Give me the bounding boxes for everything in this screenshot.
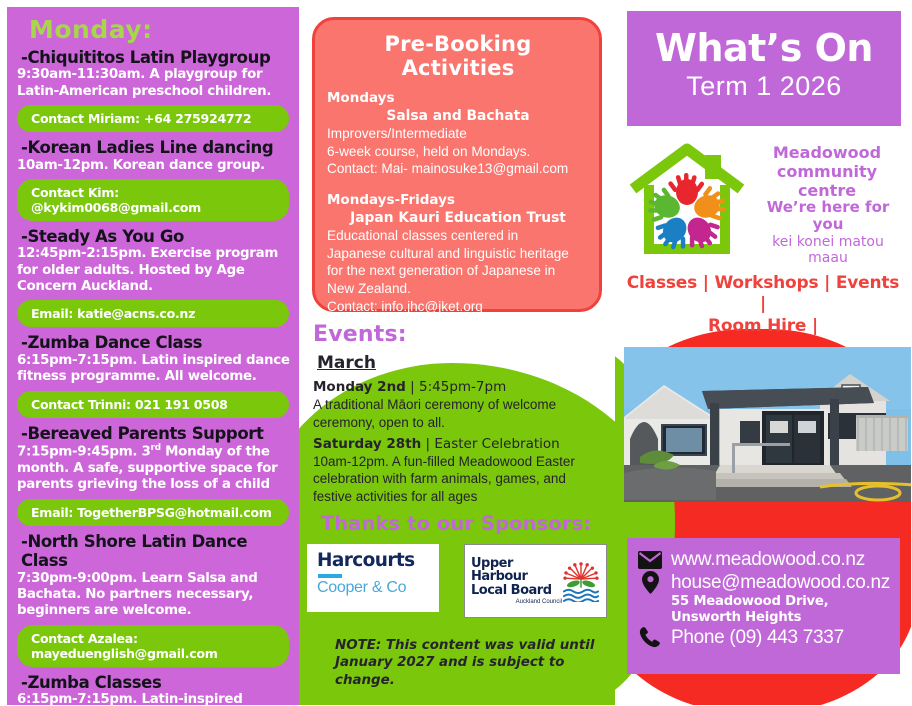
tagline-english: We’re here for you	[751, 199, 905, 234]
activity-contact-pill[interactable]: Email: katie@acns.co.nz	[17, 300, 289, 327]
whats-on-title: What’s On	[627, 29, 901, 67]
sponsor-logo-row: Harcourts Cooper & Co Upper Harbour Loca…	[307, 544, 607, 618]
community-centre-photo	[624, 347, 911, 502]
middle-column: Pre-Booking Activities Mondays Salsa and…	[299, 7, 615, 705]
uhlb-council-label: Auckland Council	[471, 599, 562, 605]
tagline-maori: kei konei matou maau	[751, 234, 905, 266]
pre-booking-entry: Mondays Salsa and Bachata Improvers/Inte…	[327, 90, 589, 178]
pre-booking-line: Japanese cultural and linguistic heritag…	[327, 245, 589, 263]
pre-booking-line: Improvers/Intermediate	[327, 125, 589, 143]
harcourts-wordmark: Harcourts	[317, 552, 439, 571]
activity-item: -Bereaved Parents Support 7:15pm-9:45pm.…	[15, 424, 291, 526]
brand-tagline: We’re here for you kei konei matou maau	[751, 199, 905, 266]
pre-booking-line: Educational classes centered in	[327, 227, 589, 245]
address-row: 55 Meadowood Drive, Unsworth Heights	[637, 594, 892, 625]
services-list: Classes | Workshops | Events | Room Hire…	[625, 273, 901, 337]
pre-booking-line: 6-week course, held on Mondays.	[327, 143, 589, 161]
event-headline: Saturday 28th | Easter Celebration	[313, 436, 595, 453]
activity-title: -Chiquititos Latin Playgroup	[15, 48, 291, 67]
events-month: March	[317, 353, 595, 373]
phone-icon	[637, 626, 663, 648]
phone-row[interactable]: Phone (09) 443 7337	[637, 626, 892, 649]
event-date: Monday 2nd	[313, 379, 406, 395]
activity-title: -Steady As You Go	[15, 227, 291, 246]
event-headline: Monday 2nd | 5:45pm-7pm	[313, 379, 595, 396]
pre-booking-name: Salsa and Bachata	[327, 108, 589, 124]
activity-title: -North Shore Latin Dance Class	[15, 532, 291, 571]
brand-name: Meadowood community centre	[751, 143, 903, 201]
activity-description: 6:15pm-7:15pm. Latin-inspired Zumba fitn…	[15, 692, 291, 705]
activity-contact-pill[interactable]: Contact Miriam: +64 275924772	[17, 105, 289, 132]
website-row[interactable]: www.meadowood.co.nz	[637, 548, 892, 571]
brand-name-line2: community centre	[777, 162, 877, 200]
pre-booking-line: for the next generation of Japanese in	[327, 262, 589, 280]
envelope-icon	[637, 551, 663, 569]
pre-booking-day: Mondays	[327, 90, 589, 106]
activity-description: 7:15pm-9:45pm. 3rd Monday of the month. …	[15, 443, 291, 494]
uhlb-line2: Local Board	[471, 583, 552, 598]
activity-contact-pill[interactable]: Contact Trinni: 021 191 0508	[17, 391, 289, 418]
whats-on-term: Term 1 2026	[627, 70, 901, 102]
event-item: Saturday 28th | Easter Celebration 10am-…	[313, 436, 595, 505]
pre-booking-day: Mondays-Fridays	[327, 192, 589, 208]
events-title: Events:	[313, 322, 407, 347]
location-pin-icon	[637, 571, 663, 594]
event-date: Saturday 28th	[313, 436, 421, 452]
services-line1: Classes | Workshops | Events |	[627, 273, 899, 314]
pre-booking-name: Japan Kauri Education Trust	[327, 210, 589, 226]
phone-text[interactable]: Phone (09) 443 7337	[671, 626, 844, 649]
event-time: 5:45pm-7pm	[419, 379, 506, 395]
activity-item: -Zumba Classes 6:15pm-7:15pm. Latin-insp…	[15, 673, 291, 705]
house-handprints-logo-icon	[627, 141, 747, 259]
brand-block: Meadowood community centre We’re here fo…	[623, 137, 905, 267]
website-text[interactable]: www.meadowood.co.nz	[671, 548, 865, 571]
activity-contact-pill[interactable]: Email: TogetherBPSG@hotmail.com	[17, 499, 289, 526]
activity-description: 12:45pm-2:15pm. Exercise program for old…	[15, 246, 291, 295]
harcourts-logo: Harcourts Cooper & Co	[307, 544, 439, 612]
events-body: March Monday 2nd | 5:45pm-7pm A traditio…	[313, 353, 595, 510]
pre-booking-card: Pre-Booking Activities Mondays Salsa and…	[312, 17, 602, 312]
harcourts-subbrand: Cooper & Co	[317, 580, 439, 596]
activity-item: -North Shore Latin Dance Class 7:30pm-9:…	[15, 532, 291, 667]
activity-description: 6:15pm-7:15pm. Latin inspired dance fitn…	[15, 353, 291, 386]
activity-description: 10am-12pm. Korean dance group.	[15, 158, 291, 174]
event-separator: |	[421, 436, 434, 452]
uhlb-line1: Upper Harbour	[471, 556, 527, 584]
address-text: 55 Meadowood Drive, Unsworth Heights	[671, 594, 892, 625]
day-heading: Monday:	[29, 15, 291, 44]
activity-title: -Korean Ladies Line dancing	[15, 138, 291, 157]
event-description: A traditional Māori ceremony of welcome …	[313, 396, 595, 431]
activity-item: -Chiquititos Latin Playgroup 9:30am-11:3…	[15, 48, 291, 132]
brand-name-line1: Meadowood	[773, 143, 881, 162]
activity-description: 9:30am-11:30am. A playgroup for Latin-Am…	[15, 67, 291, 100]
activity-item: -Zumba Dance Class 6:15pm-7:15pm. Latin …	[15, 333, 291, 417]
activity-title: -Zumba Dance Class	[15, 333, 291, 352]
activity-contact-pill[interactable]: Contact Azalea: mayeduenglish@gmail.com	[17, 625, 289, 667]
pre-booking-title: Pre-Booking Activities	[327, 32, 589, 80]
event-description: 10am-12pm. A fun-filled Meadowood Easter…	[313, 453, 595, 505]
uhlb-wordmark: Upper Harbour Local Board Auckland Counc…	[471, 557, 562, 605]
services-line2: Room Hire |	[708, 316, 818, 336]
event-separator: |	[406, 379, 419, 395]
email-text[interactable]: house@meadowood.co.nz	[671, 571, 890, 594]
activity-item: -Korean Ladies Line dancing 10am-12pm. K…	[15, 138, 291, 221]
pohutukawa-waves-icon	[562, 560, 600, 602]
activity-title: -Bereaved Parents Support	[15, 424, 291, 443]
flyer-page: Monday: -Chiquititos Latin Playgroup 9:3…	[0, 0, 912, 706]
event-time: Easter Celebration	[434, 436, 559, 452]
harcourts-underline-rule	[318, 574, 342, 578]
activity-title: -Zumba Classes	[15, 673, 291, 692]
pre-booking-line: Contact: Mai- mainosuke13@gmail.com	[327, 160, 589, 178]
contact-card: www.meadowood.co.nz house@meadowood.co.n…	[627, 538, 900, 674]
whats-on-banner: What’s On Term 1 2026	[627, 11, 901, 126]
pre-booking-entry: Mondays-Fridays Japan Kauri Education Tr…	[327, 192, 589, 315]
activity-contact-pill[interactable]: Contact Kim: @kykim0068@gmail.com	[17, 179, 289, 221]
monday-activities-column: Monday: -Chiquititos Latin Playgroup 9:3…	[7, 7, 299, 705]
right-column: What’s On Term 1 2026	[615, 7, 911, 705]
validity-note: NOTE: This content was valid until Janua…	[335, 637, 595, 689]
building-photo-illustration	[624, 347, 911, 502]
spacer	[327, 178, 589, 192]
pre-booking-line: New Zealand.	[327, 280, 589, 298]
upper-harbour-local-board-logo: Upper Harbour Local Board Auckland Counc…	[464, 544, 607, 618]
event-item: Monday 2nd | 5:45pm-7pm A traditional Mā…	[313, 379, 595, 431]
email-row[interactable]: house@meadowood.co.nz	[637, 571, 892, 594]
sponsors-title: Thanks to our Sponsors:	[315, 512, 597, 535]
activity-description: 7:30pm-9:00pm. Learn Salsa and Bachata. …	[15, 571, 291, 620]
activity-item: -Steady As You Go 12:45pm-2:15pm. Exerci…	[15, 227, 291, 328]
pre-booking-line: Contact: info.jhc@jket.org	[327, 298, 589, 316]
